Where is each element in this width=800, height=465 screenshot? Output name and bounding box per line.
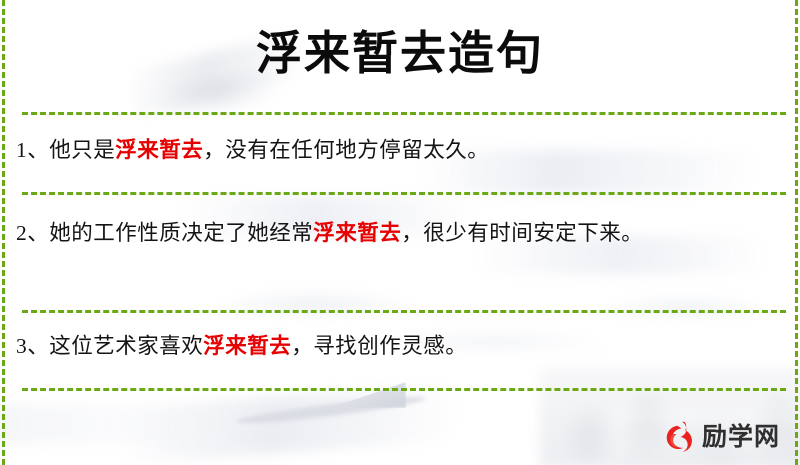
divider-after-sentence-3 (22, 388, 786, 391)
divider-below-title (22, 112, 786, 115)
sentence-item-2: 2、她的工作性质决定了她经常浮来暂去，很少有时间安定下来。 (16, 214, 782, 253)
divider-after-sentence-2 (22, 310, 786, 313)
wash-boat-sail (330, 382, 406, 408)
wash-shore-bottomleft (118, 384, 461, 464)
sentence-3-index: 3、 (16, 334, 49, 358)
page-root: 浮来暂去造句 1、他只是浮来暂去，没有在任何地方停留太久。 2、她的工作性质决定… (0, 0, 800, 465)
watermark-logo: 励学网 (661, 419, 780, 453)
wash-mountain-right (560, 258, 800, 314)
sentence-2-before: 她的工作性质决定了她经常 (49, 221, 313, 245)
sentence-2-index: 2、 (16, 221, 49, 245)
sentence-2-keyword: 浮来暂去 (313, 221, 401, 245)
watermark-brand-text: 励学网 (702, 424, 780, 449)
sentence-1-index: 1、 (16, 138, 49, 162)
red-swirl-flame-icon (661, 419, 695, 453)
sentence-3-keyword: 浮来暂去 (203, 334, 291, 358)
page-title: 浮来暂去造句 (0, 22, 800, 84)
sentence-item-3: 3、这位艺术家喜欢浮来暂去，寻找创作灵感。 (16, 327, 782, 366)
wash-boat-hull (236, 392, 426, 427)
frame-left-dashed-border (2, 0, 5, 465)
sentence-1-keyword: 浮来暂去 (115, 138, 203, 162)
sentence-1-before: 他只是 (49, 138, 115, 162)
sentence-1-after: ，没有在任何地方停留太久。 (203, 138, 489, 162)
sentence-3-after: ，寻找创作灵感。 (291, 334, 467, 358)
wash-mist-bottomleft (0, 404, 240, 444)
frame-right-dashed-border (795, 0, 798, 465)
sentence-item-1: 1、他只是浮来暂去，没有在任何地方停留太久。 (16, 131, 782, 170)
wash-mountain-left (170, 248, 460, 312)
sentence-3-before: 这位艺术家喜欢 (49, 334, 203, 358)
sentence-2-after: ，很少有时间安定下来。 (401, 221, 643, 245)
divider-after-sentence-1 (22, 192, 786, 195)
